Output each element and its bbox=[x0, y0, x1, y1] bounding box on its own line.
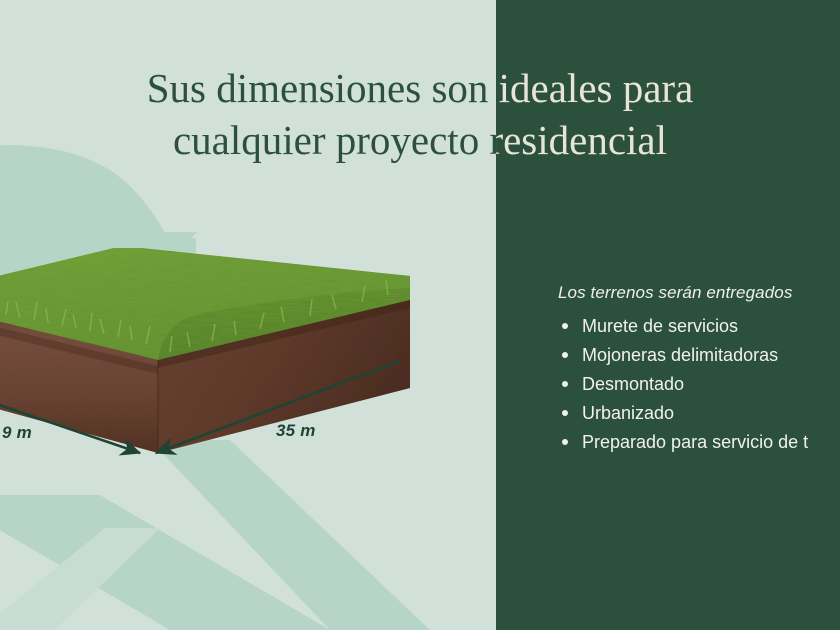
list-item: Mojoneras delimitadoras bbox=[558, 341, 840, 370]
list-item-label: Desmontado bbox=[582, 374, 684, 394]
bullet-icon bbox=[562, 410, 568, 416]
list-item-label: Mojoneras delimitadoras bbox=[582, 345, 778, 365]
list-item-label: Preparado para servicio de t bbox=[582, 432, 808, 452]
list-item: Desmontado bbox=[558, 370, 840, 399]
bullet-icon bbox=[562, 323, 568, 329]
list-item: Preparado para servicio de t bbox=[558, 428, 840, 457]
list-item: Murete de servicios bbox=[558, 312, 840, 341]
list-item-label: Murete de servicios bbox=[582, 316, 738, 336]
bullet-icon bbox=[562, 439, 568, 445]
list-item: Urbanizado bbox=[558, 399, 840, 428]
bullet-icon bbox=[562, 381, 568, 387]
features-intro-text: Los terrenos serán entregados bbox=[558, 283, 840, 303]
bullet-icon bbox=[562, 352, 568, 358]
features-block: Los terrenos serán entregados Murete de … bbox=[558, 283, 840, 457]
land-block-illustration bbox=[0, 248, 430, 463]
features-list: Murete de servicios Mojoneras delimitado… bbox=[558, 312, 840, 457]
presentation-slide: 9 m 35 m Sus dimensiones son ideales par… bbox=[0, 0, 840, 630]
list-item-label: Urbanizado bbox=[582, 403, 674, 423]
